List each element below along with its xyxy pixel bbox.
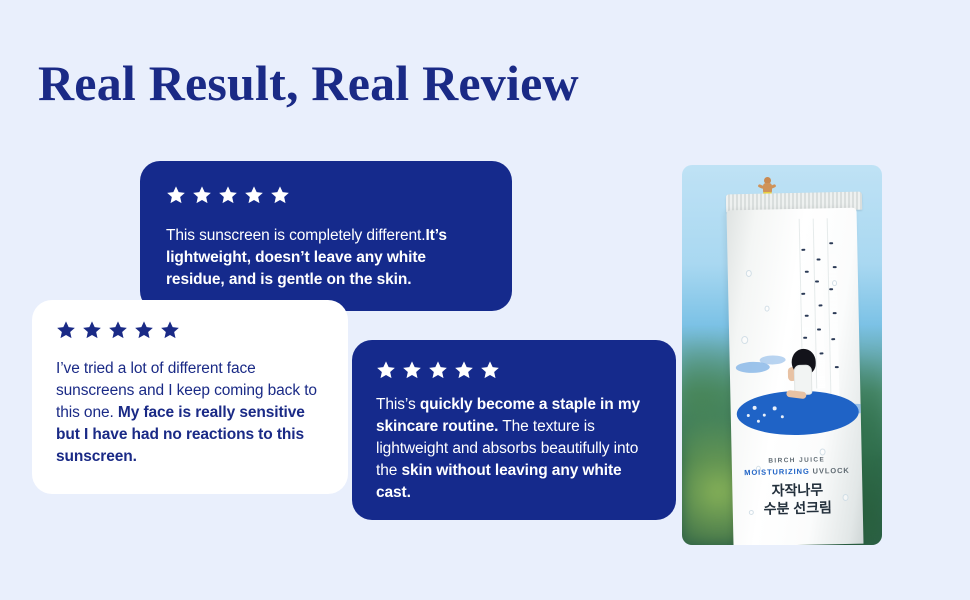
- label-highlight: MOISTURIZING: [744, 467, 810, 477]
- star-rating: [166, 185, 486, 205]
- star-icon: [82, 320, 102, 340]
- star-icon: [244, 185, 264, 205]
- star-icon: [56, 320, 76, 340]
- star-rating: [56, 320, 324, 340]
- review-card-2: I’ve tried a lot of different face sunsc…: [32, 300, 348, 494]
- label-product-line: MOISTURIZING UVLOCK: [732, 466, 862, 478]
- sunscreen-tube: BIRCH JUICE MOISTURIZING UVLOCK 자작나무 수분 …: [726, 208, 863, 545]
- star-icon: [218, 185, 238, 205]
- star-icon: [108, 320, 128, 340]
- star-icon: [134, 320, 154, 340]
- promo-banner: Real Result, Real Review This sunscreen …: [0, 0, 970, 600]
- product-photo: BIRCH JUICE MOISTURIZING UVLOCK 자작나무 수분 …: [682, 165, 882, 545]
- label-rest: UVLOCK: [810, 466, 850, 476]
- review-card-1: This sunscreen is completely different.I…: [140, 161, 512, 311]
- star-icon: [270, 185, 290, 205]
- star-icon: [166, 185, 186, 205]
- label-korean-line-1: 자작나무: [732, 481, 862, 501]
- label-brand-line: BIRCH JUICE: [732, 456, 862, 466]
- page-title: Real Result, Real Review: [38, 52, 579, 114]
- star-icon: [402, 360, 422, 380]
- star-icon: [428, 360, 448, 380]
- product-label: BIRCH JUICE MOISTURIZING UVLOCK 자작나무 수분 …: [732, 456, 863, 519]
- star-icon: [376, 360, 396, 380]
- star-icon: [454, 360, 474, 380]
- review-text: This’s quickly become a staple in my ski…: [376, 394, 652, 504]
- star-icon: [192, 185, 212, 205]
- star-icon: [160, 320, 180, 340]
- star-icon: [480, 360, 500, 380]
- review-card-3: This’s quickly become a staple in my ski…: [352, 340, 676, 520]
- star-rating: [376, 360, 652, 380]
- review-text: I’ve tried a lot of different face sunsc…: [56, 358, 324, 468]
- label-korean-line-2: 수분 선크림: [733, 499, 863, 519]
- review-text: This sunscreen is completely different.I…: [166, 225, 486, 291]
